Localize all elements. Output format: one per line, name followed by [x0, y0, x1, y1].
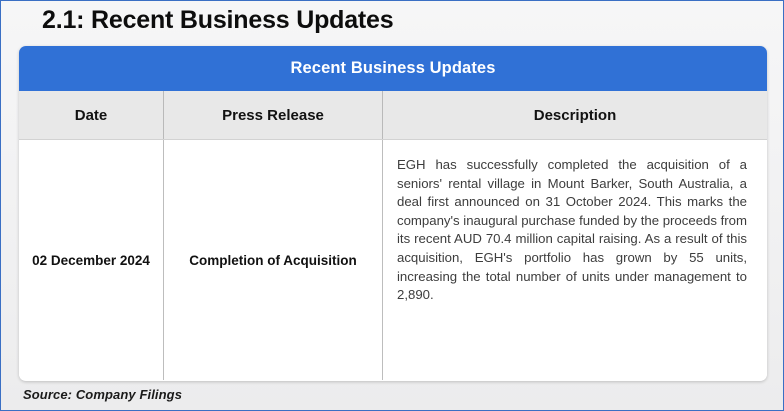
page-title: 2.1: Recent Business Updates	[42, 3, 393, 37]
column-header-press-release: Press Release	[164, 91, 382, 139]
slide-canvas: 2.1: Recent Business Updates Recent Busi…	[0, 0, 784, 411]
recent-business-updates-table: Recent Business Updates Date Press Relea…	[19, 46, 767, 381]
cell-date: 02 December 2024	[19, 140, 163, 380]
table-header-row: Date Press Release Description	[19, 91, 767, 140]
column-header-date: Date	[19, 91, 163, 139]
description-paragraph: EGH has successfully completed the acqui…	[397, 156, 747, 305]
source-note: Source: Company Filings	[23, 387, 182, 402]
column-header-description: Description	[383, 91, 767, 139]
cell-description: EGH has successfully completed the acqui…	[383, 140, 767, 380]
cell-press-release: Completion of Acquisition	[164, 140, 382, 380]
table-banner-label: Recent Business Updates	[291, 59, 496, 78]
table-banner: Recent Business Updates	[19, 46, 767, 91]
table-body: 02 December 2024 Completion of Acquisiti…	[19, 140, 767, 380]
table-row: 02 December 2024 Completion of Acquisiti…	[19, 140, 767, 380]
